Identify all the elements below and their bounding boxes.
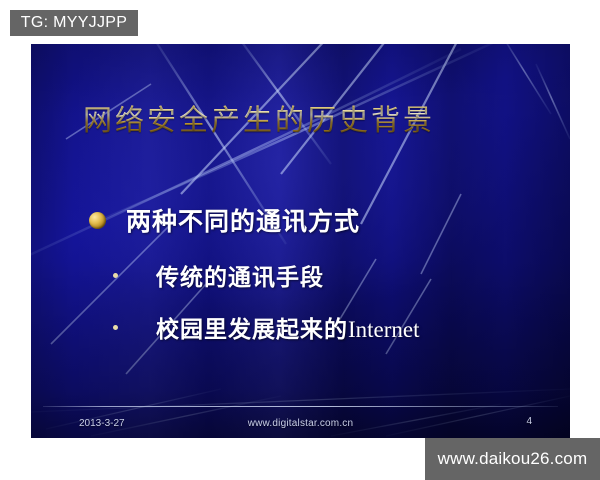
footer-url: www.digitalstar.com.cn — [248, 418, 354, 429]
slide-title: 网络安全产生的历史背景 — [83, 97, 435, 139]
bullet-item-1-label: 两种不同的通讯方式 — [126, 202, 360, 238]
footer-divider — [43, 406, 558, 407]
bullet-item-2-label: 传统的通讯手段 — [156, 258, 324, 292]
bullet-item-3-latin: Internet — [348, 317, 420, 342]
slide-footer: 2013-3-27 www.digitalstar.com.cn 4 — [31, 416, 570, 438]
bullet-item-3-label: 校园里发展起来的Internet — [156, 310, 420, 344]
watermark-bottom-right: www.daikou26.com — [425, 438, 600, 480]
bullet-item-1: 两种不同的通讯方式 — [89, 202, 360, 238]
bullet-item-2: 传统的通讯手段 — [109, 258, 324, 292]
small-dot-bullet-icon — [113, 325, 118, 330]
presentation-slide: 网络安全产生的历史背景 两种不同的通讯方式 传统的通讯手段 校园里发展起来的In… — [31, 44, 570, 438]
bullet-item-3-cjk: 校园里发展起来的 — [156, 317, 348, 343]
small-dot-bullet-icon — [113, 273, 118, 278]
watermark-top-left: TG: MYYJJPP — [10, 10, 138, 36]
footer-page-number: 4 — [526, 416, 532, 427]
gold-sphere-bullet-icon — [89, 212, 106, 229]
bullet-item-3: 校园里发展起来的Internet — [109, 310, 420, 344]
page-canvas: 网络安全产生的历史背景 两种不同的通讯方式 传统的通讯手段 校园里发展起来的In… — [0, 0, 600, 480]
footer-date: 2013-3-27 — [79, 418, 125, 429]
